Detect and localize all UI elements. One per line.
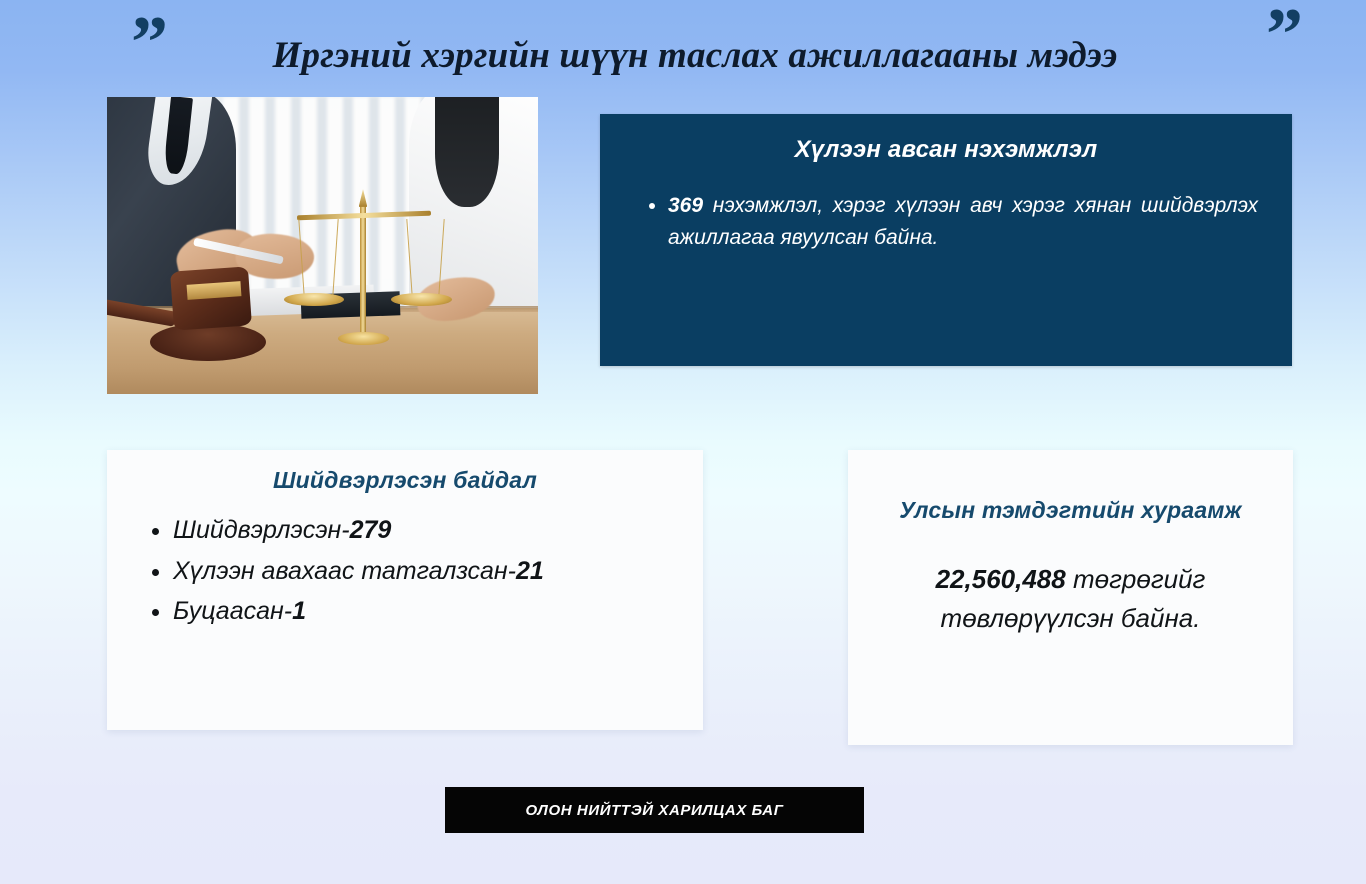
state-stamp-fee-card: Улсын тэмдэгтийн хураамж 22,560,488 төгр… [848, 450, 1293, 745]
photo-scales-post [360, 201, 366, 341]
photo-scene [107, 97, 538, 394]
resolution-item-value: 21 [516, 557, 544, 585]
resolution-item-label: Хүлээн авахаас татгалзсан- [173, 557, 516, 585]
resolution-item-label: Шийдвэрлэсэн- [173, 516, 350, 544]
list-item: Буцаасан-1 [173, 591, 693, 632]
received-claims-panel: Хүлээн авсан нэхэмжлэл 369 нэхэмжлэл, хэ… [600, 114, 1292, 366]
photo-gavel-head [170, 267, 252, 332]
page-title: Иргэний хэргийн шүүн таслах ажиллагааны … [180, 34, 1210, 77]
photo-window-blinds [223, 97, 430, 311]
public-relations-team-label: ОЛОН НИЙТТЭЙ ХАРИЛЦАХ БАГ [525, 802, 783, 819]
resolution-item-label: Буцаасан- [173, 597, 292, 625]
public-relations-team-banner: ОЛОН НИЙТТЭЙ ХАРИЛЦАХ БАГ [445, 787, 864, 833]
received-claims-title: Хүлээн авсан нэхэмжлэл [600, 136, 1292, 164]
list-item: Шийдвэрлэсэн-279 [173, 510, 693, 551]
resolution-item-value: 279 [350, 516, 392, 544]
photo-gavel-band [186, 281, 241, 300]
state-stamp-fee-amount-block: 22,560,488 төгрөгийг төвлөрүүлсэн байна. [874, 560, 1267, 638]
state-stamp-fee-amount: 22,560,488 [936, 564, 1066, 594]
state-stamp-fee-title: Улсын тэмдэгтийн хураамж [848, 450, 1293, 524]
slide-root: ” ” Иргэний хэргийн шүүн таслах ажиллага… [0, 0, 1366, 884]
quote-mark-right-icon: ” [1266, 0, 1303, 72]
photo-scales-base [331, 341, 396, 359]
resolution-status-title: Шийдвэрлэсэн байдал [107, 450, 703, 494]
photo-woman-top [435, 97, 500, 207]
legal-scene-photo [107, 97, 538, 394]
received-claims-text: нэхэмжлэл, хэрэг хүлээн авч хэрэг хянан … [668, 194, 1258, 249]
list-item: 369 нэхэмжлэл, хэрэг хүлээн авч хэрэг хя… [668, 190, 1258, 253]
quote-mark-left-icon: ” [131, 6, 168, 80]
resolution-status-list: Шийдвэрлэсэн-279 Хүлээн авахаас татгалзс… [151, 510, 693, 632]
received-claims-count: 369 [668, 194, 703, 217]
received-claims-list: 369 нэхэмжлэл, хэрэг хүлээн авч хэрэг хя… [646, 190, 1258, 253]
list-item: Хүлээн авахаас татгалзсан-21 [173, 551, 693, 592]
resolution-status-card: Шийдвэрлэсэн байдал Шийдвэрлэсэн-279 Хүл… [107, 450, 703, 730]
resolution-item-value: 1 [292, 597, 306, 625]
